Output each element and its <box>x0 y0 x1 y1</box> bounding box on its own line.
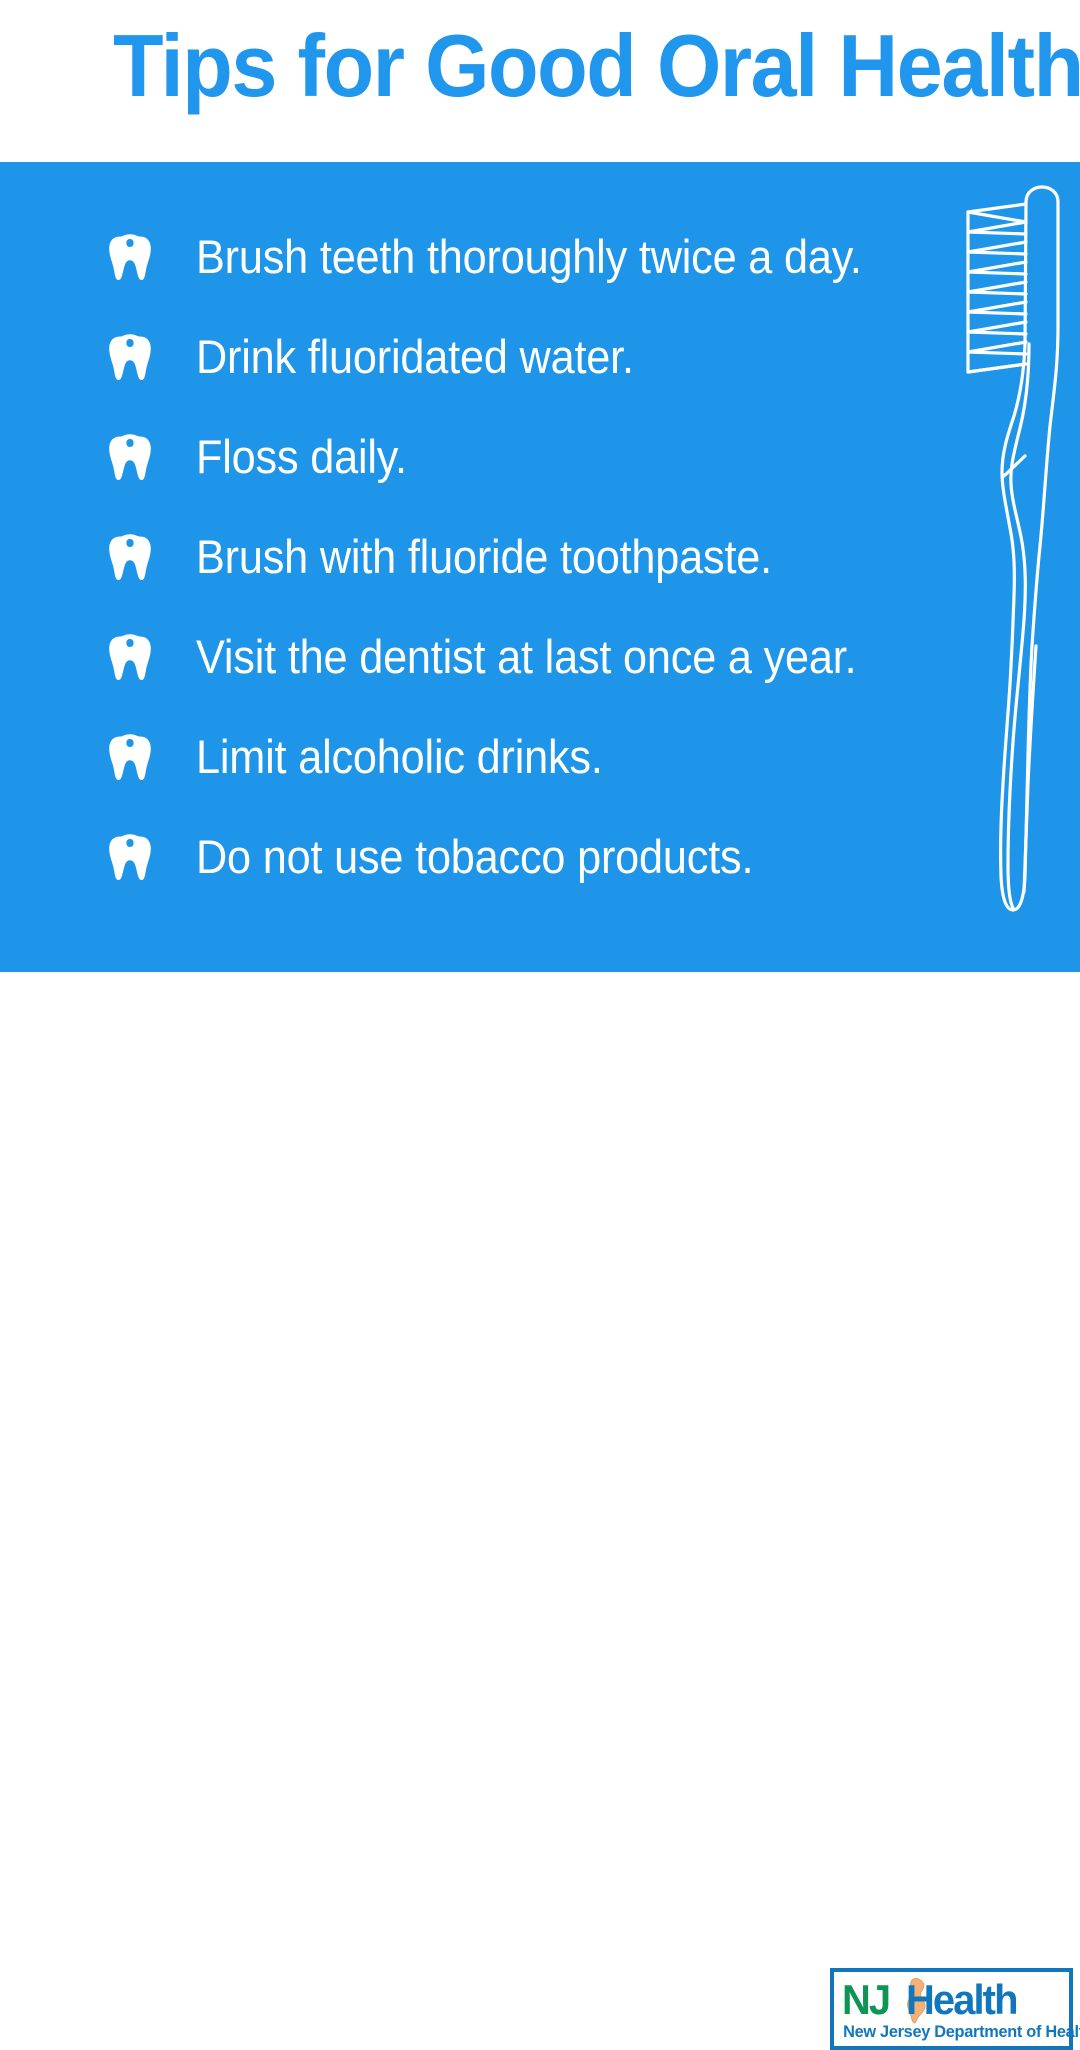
tip-text: Visit the dentist at last once a year. <box>196 632 856 681</box>
health-logo-text: Health <box>906 1978 1017 2022</box>
tip-text: Brush with fluoride toothpaste. <box>196 532 772 581</box>
tooth-icon <box>108 433 152 481</box>
nj-logo-text: NJ <box>842 1978 889 2022</box>
tip-list-item: Brush teeth thoroughly twice a day. <box>0 207 960 307</box>
footer-bar: NJ Health New Jersey Department of Healt… <box>0 972 1080 1080</box>
tip-text: Limit alcoholic drinks. <box>196 732 603 781</box>
tip-list-item: Do not use tobacco products. <box>0 807 960 907</box>
tip-text: Drink fluoridated water. <box>196 332 634 381</box>
tip-text: Brush teeth thoroughly twice a day. <box>196 232 862 281</box>
tip-list-item: Floss daily. <box>0 407 960 507</box>
tip-list-item: Limit alcoholic drinks. <box>0 707 960 807</box>
tooth-icon <box>108 233 152 281</box>
tip-list-item: Visit the dentist at last once a year. <box>0 607 960 707</box>
tip-text: Floss daily. <box>196 432 407 481</box>
nj-health-logo-subtitle: New Jersey Department of Health <box>843 2022 1060 2042</box>
page-title: Tips for Good Oral Health: <box>113 22 1080 110</box>
tooth-icon <box>108 733 152 781</box>
header-bar: Tips for Good Oral Health: <box>0 0 1080 162</box>
tips-panel: Brush teeth thoroughly twice a day.Drink… <box>0 162 1080 972</box>
nj-health-logo-wordmark: NJ Health <box>842 1978 1061 2022</box>
tip-text: Do not use tobacco products. <box>196 832 753 881</box>
tip-list-item: Drink fluoridated water. <box>0 307 960 407</box>
tooth-icon <box>108 833 152 881</box>
tip-list-item: Brush with fluoride toothpaste. <box>0 507 960 607</box>
tooth-icon <box>108 333 152 381</box>
nj-health-logo: NJ Health New Jersey Department of Healt… <box>830 1968 1073 2050</box>
tooth-icon <box>108 533 152 581</box>
toothbrush-illustration <box>950 176 1080 936</box>
tooth-icon <box>108 633 152 681</box>
tips-list: Brush teeth thoroughly twice a day.Drink… <box>0 162 960 907</box>
